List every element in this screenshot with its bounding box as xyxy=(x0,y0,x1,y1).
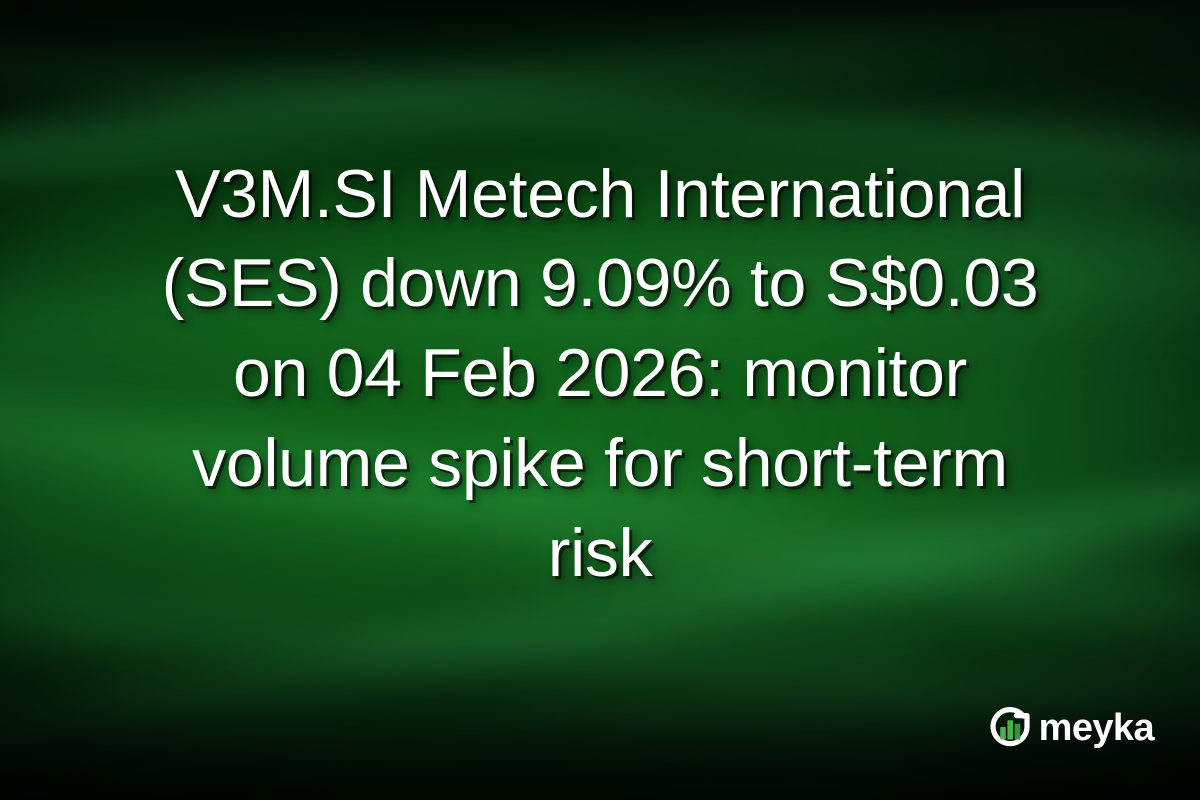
share-card: V3M.SI Metech International (SES) down 9… xyxy=(0,0,1200,800)
headline-text: V3M.SI Metech International (SES) down 9… xyxy=(0,150,1200,599)
meyka-wordmark: meyka xyxy=(1039,709,1154,747)
meyka-bar-chart-ring-icon xyxy=(986,704,1034,752)
meyka-logo[interactable]: meyka xyxy=(986,704,1158,752)
